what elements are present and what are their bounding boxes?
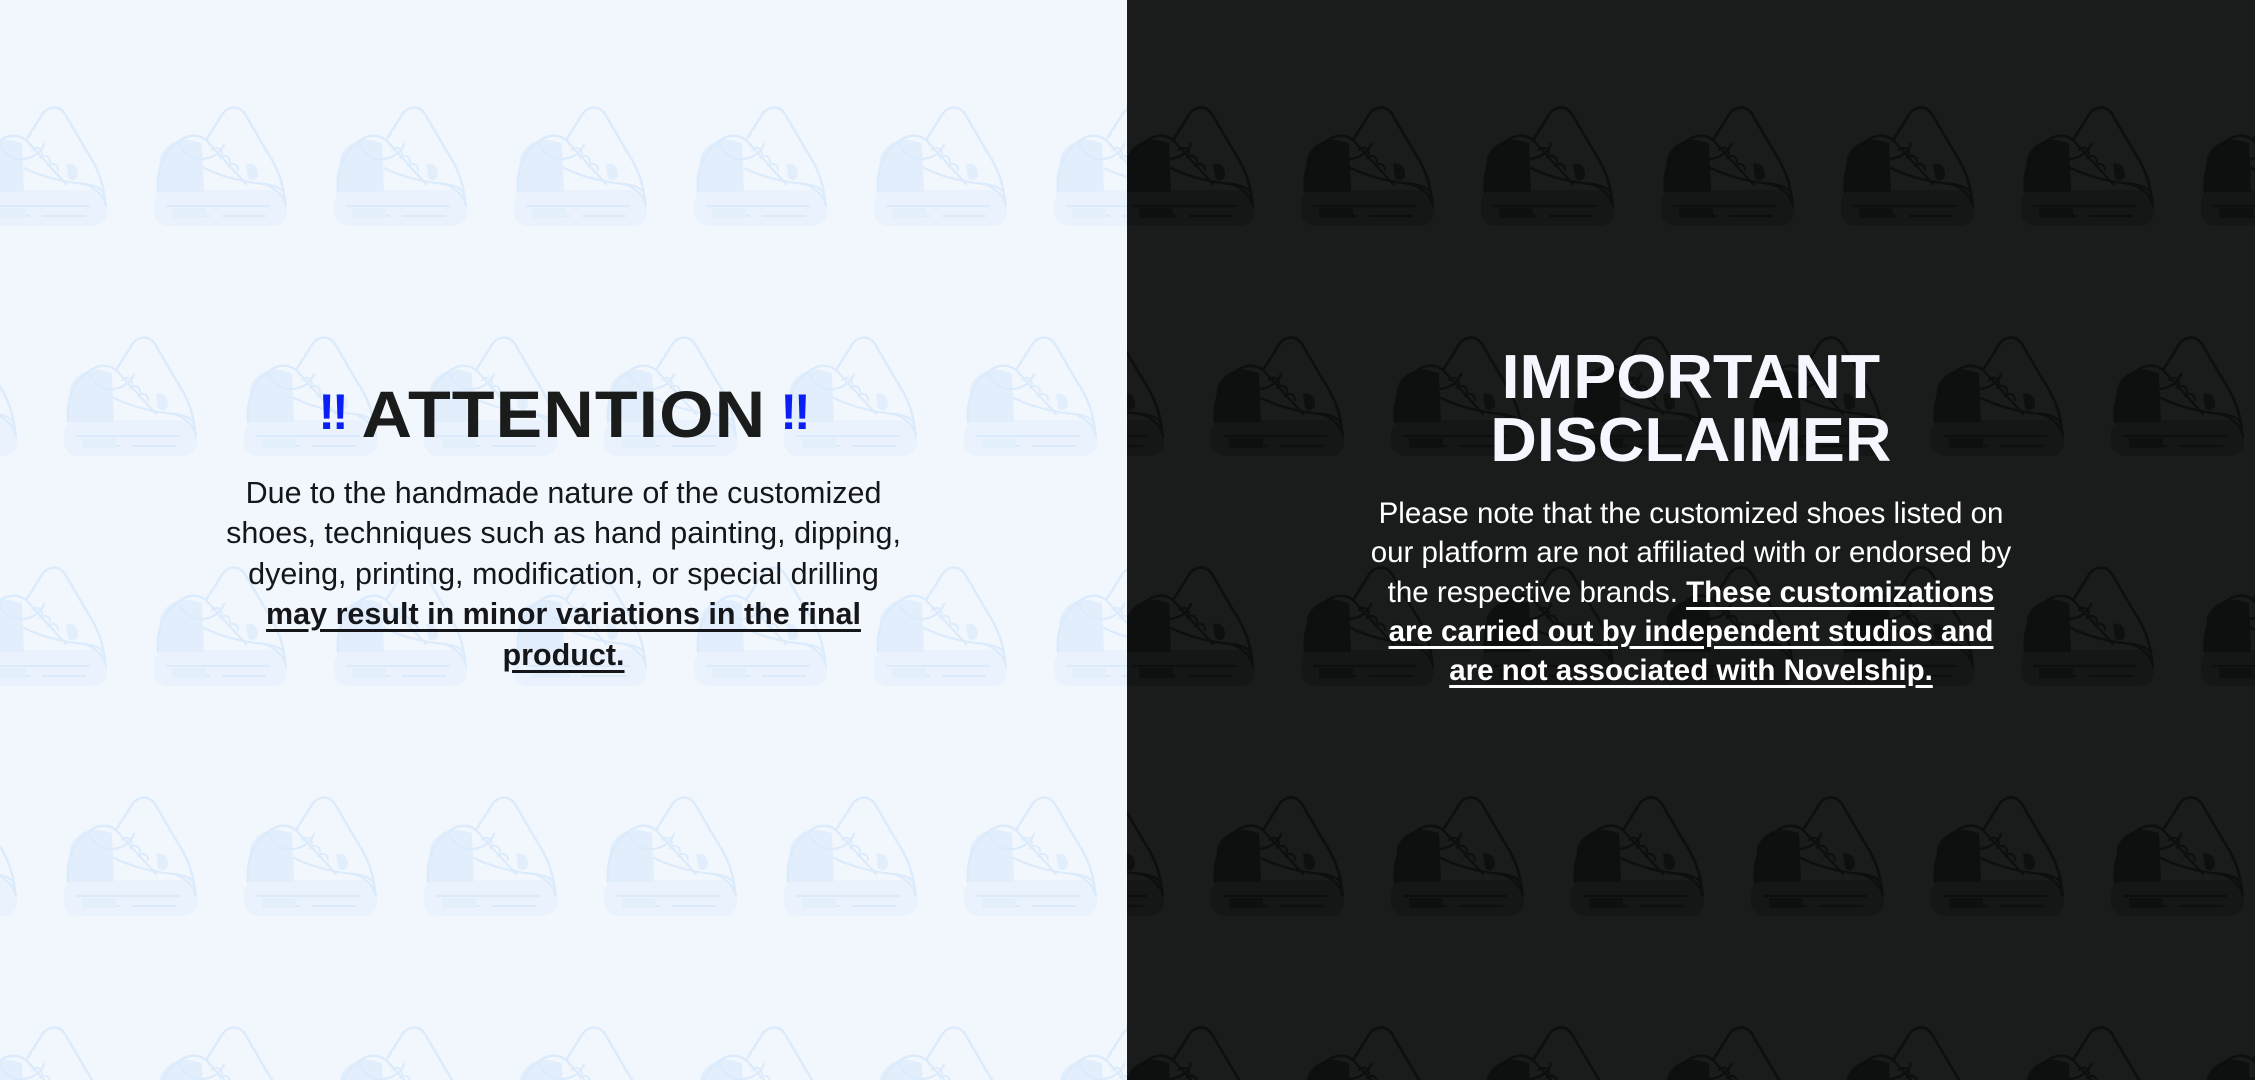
double-exclamation-right-icon: ‼ bbox=[780, 387, 808, 437]
attention-panel: ‼ ATTENTION ‼ Due to the handmade nature… bbox=[0, 0, 1127, 1080]
attention-content: ‼ ATTENTION ‼ Due to the handmade nature… bbox=[0, 0, 1127, 1068]
attention-heading-word: ATTENTION bbox=[361, 381, 766, 447]
disclaimer-content: IMPORTANT DISCLAIMER Please note that th… bbox=[1127, 0, 2255, 1058]
attention-body-normal: Due to the handmade nature of the custom… bbox=[226, 476, 901, 591]
banner-canvas: ‼ ATTENTION ‼ Due to the handmade nature… bbox=[0, 0, 2255, 1080]
disclaimer-heading: IMPORTANT DISCLAIMER bbox=[1490, 346, 1891, 472]
disclaimer-heading-line1: IMPORTANT bbox=[1502, 343, 1880, 412]
attention-body: Due to the handmade nature of the custom… bbox=[214, 473, 914, 676]
disclaimer-panel: IMPORTANT DISCLAIMER Please note that th… bbox=[1127, 0, 2255, 1080]
disclaimer-body: Please note that the customized shoes li… bbox=[1367, 494, 2015, 690]
attention-heading: ‼ ATTENTION ‼ bbox=[318, 381, 808, 447]
attention-body-emphasis: may result in minor variations in the fi… bbox=[266, 597, 861, 672]
double-exclamation-left-icon: ‼ bbox=[318, 387, 346, 437]
disclaimer-heading-line2: DISCLAIMER bbox=[1490, 406, 1891, 475]
